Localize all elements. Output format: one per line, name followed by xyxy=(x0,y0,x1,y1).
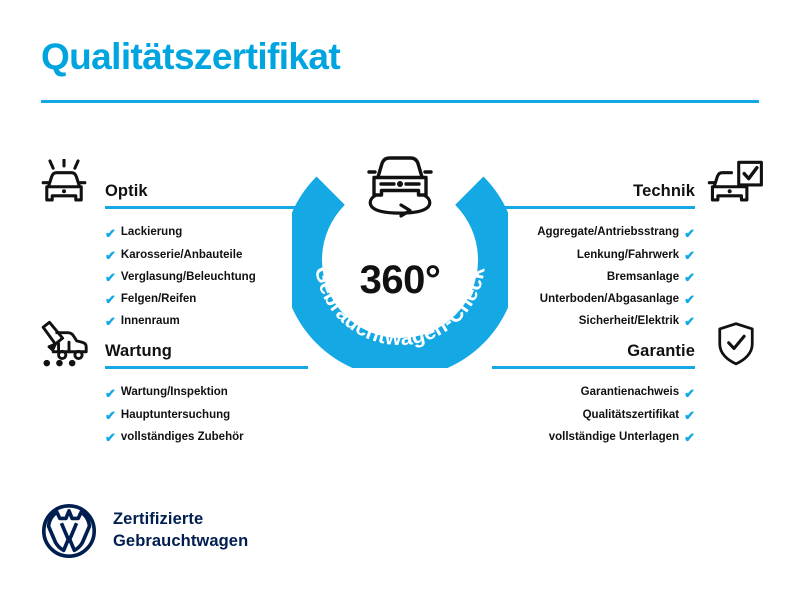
check-icon: ✔ xyxy=(105,271,116,284)
list-item: Qualitätszertifikat✔ xyxy=(492,404,767,426)
list-item-label: Unterboden/Abgasanlage xyxy=(540,294,679,306)
list-item-label: Lackierung xyxy=(121,227,182,239)
list-item: ✔vollständiges Zubehör xyxy=(33,426,308,448)
vw-footer-line1: Zertifizierte xyxy=(113,509,248,531)
list-item-label: vollständiges Zubehör xyxy=(121,432,244,444)
360-check-badge: Gebrauchtwagen-Check 360° xyxy=(292,152,508,368)
list-item: Garantienachweis✔ xyxy=(492,382,767,404)
vw-footer-line2: Gebrauchtwagen xyxy=(113,531,248,553)
checklist-wartung: ✔Wartung/Inspektion ✔Hauptuntersuchung ✔… xyxy=(33,382,308,449)
check-icon: ✔ xyxy=(684,293,695,306)
vw-logo xyxy=(41,503,97,559)
section-underline-wartung xyxy=(105,366,308,369)
checklist-optik: ✔Lackierung ✔Karosserie/Anbauteile ✔Verg… xyxy=(33,222,308,333)
check-icon: ✔ xyxy=(105,431,116,444)
list-item-label: Verglasung/Beleuchtung xyxy=(121,272,256,284)
check-icon: ✔ xyxy=(684,409,695,422)
section-underline-garantie xyxy=(492,366,695,369)
check-icon: ✔ xyxy=(105,409,116,422)
check-icon: ✔ xyxy=(684,431,695,444)
list-item-label: Karosserie/Anbauteile xyxy=(121,250,242,262)
vw-footer-text: Zertifizierte Gebrauchtwagen xyxy=(113,509,248,553)
badge-center-label: 360° xyxy=(292,260,508,300)
section-title-garantie: Garantie xyxy=(627,342,695,361)
list-item: ✔Wartung/Inspektion xyxy=(33,382,308,404)
check-icon: ✔ xyxy=(105,227,116,240)
list-item: Aggregate/Antriebsstrang✔ xyxy=(492,222,767,244)
check-icon: ✔ xyxy=(105,293,116,306)
section-header-optik: Optik xyxy=(33,158,308,214)
list-item-label: Wartung/Inspektion xyxy=(121,387,228,399)
section-wartung: Wartung ✔Wartung/Inspektion ✔Hauptunters… xyxy=(33,318,308,449)
car-service-pencil-icon xyxy=(33,318,95,370)
check-icon: ✔ xyxy=(684,387,695,400)
section-title-technik: Technik xyxy=(633,182,695,201)
section-technik: Technik Aggregate/Antriebsstrang✔ Lenkun… xyxy=(492,158,767,333)
list-item-label: Felgen/Reifen xyxy=(121,294,196,306)
check-icon: ✔ xyxy=(684,271,695,284)
section-header-garantie: Garantie xyxy=(492,318,767,374)
list-item-label: Lenkung/Fahrwerk xyxy=(577,250,679,262)
section-garantie: Garantie Garantienachweis✔ Qualitätszert… xyxy=(492,318,767,449)
list-item: Bremsanlage✔ xyxy=(492,266,767,288)
check-icon: ✔ xyxy=(684,227,695,240)
check-icon: ✔ xyxy=(684,249,695,262)
list-item: ✔Felgen/Reifen xyxy=(33,289,308,311)
list-item-label: Aggregate/Antriebsstrang xyxy=(537,227,679,239)
section-header-technik: Technik xyxy=(492,158,767,214)
check-icon: ✔ xyxy=(105,387,116,400)
list-item: Unterboden/Abgasanlage✔ xyxy=(492,289,767,311)
list-item-label: Garantienachweis xyxy=(581,387,679,399)
vw-footer: Zertifizierte Gebrauchtwagen xyxy=(41,503,248,559)
section-title-wartung: Wartung xyxy=(105,342,172,361)
car-rotate-icon xyxy=(354,147,446,221)
list-item: vollständige Unterlagen✔ xyxy=(492,426,767,448)
title-divider xyxy=(41,100,759,103)
list-item: ✔Karosserie/Anbauteile xyxy=(33,244,308,266)
section-underline-technik xyxy=(492,206,695,209)
section-header-wartung: Wartung xyxy=(33,318,308,374)
car-checkbox-icon xyxy=(705,158,767,210)
list-item: ✔Lackierung xyxy=(33,222,308,244)
section-optik: Optik ✔Lackierung ✔Karosserie/Anbauteile… xyxy=(33,158,308,333)
section-underline-optik xyxy=(105,206,308,209)
list-item-label: vollständige Unterlagen xyxy=(549,432,679,444)
page-title: Qualitätszertifikat xyxy=(41,38,340,77)
list-item-label: Bremsanlage xyxy=(607,272,679,284)
list-item-label: Qualitätszertifikat xyxy=(583,410,680,422)
section-title-optik: Optik xyxy=(105,182,148,201)
check-icon: ✔ xyxy=(105,249,116,262)
shield-check-icon xyxy=(705,318,767,370)
checklist-garantie: Garantienachweis✔ Qualitätszertifikat✔ v… xyxy=(492,382,767,449)
checklist-technik: Aggregate/Antriebsstrang✔ Lenkung/Fahrwe… xyxy=(492,222,767,333)
car-shine-icon xyxy=(33,158,95,210)
list-item: Lenkung/Fahrwerk✔ xyxy=(492,244,767,266)
list-item: ✔Hauptuntersuchung xyxy=(33,404,308,426)
certificate-page: Qualitätszertifikat Optik ✔Lackierun xyxy=(0,0,800,600)
list-item-label: Hauptuntersuchung xyxy=(121,410,230,422)
list-item: ✔Verglasung/Beleuchtung xyxy=(33,266,308,288)
